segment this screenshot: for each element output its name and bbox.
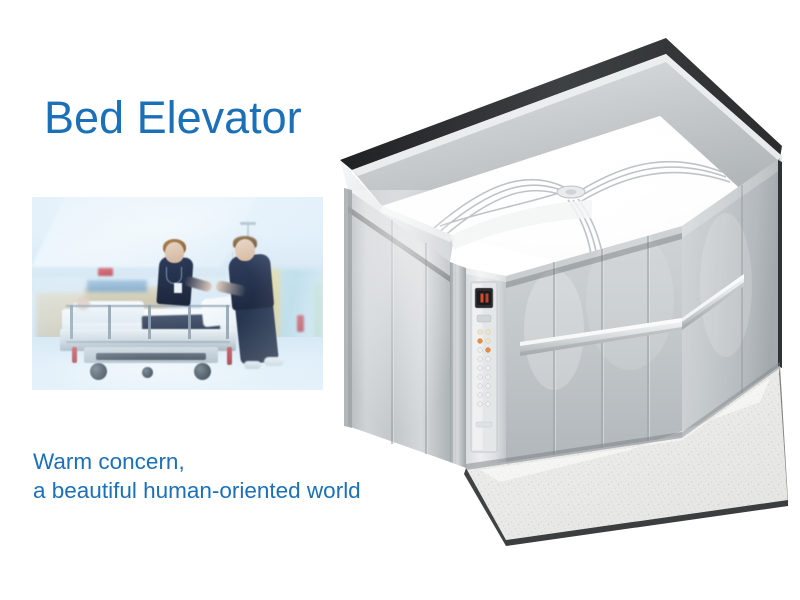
cop-card-reader xyxy=(477,315,491,322)
hospital-photo xyxy=(32,197,323,390)
left-wall xyxy=(348,190,450,462)
cop-key-switch xyxy=(476,422,492,427)
photo-blue-tint xyxy=(32,197,323,390)
slide-canvas: Bed Elevator xyxy=(0,0,800,600)
subtitle-line-2: a beautiful human-oriented world xyxy=(33,476,361,505)
elevator-interior-image xyxy=(330,30,790,555)
page-title: Bed Elevator xyxy=(44,92,302,144)
subtitle-line-1: Warm concern, xyxy=(33,447,361,476)
corner-post xyxy=(450,262,466,468)
subtitle: Warm concern, a beautiful human-oriented… xyxy=(33,447,361,505)
car-front-edge-left xyxy=(344,188,352,428)
elevator-svg xyxy=(330,30,790,555)
